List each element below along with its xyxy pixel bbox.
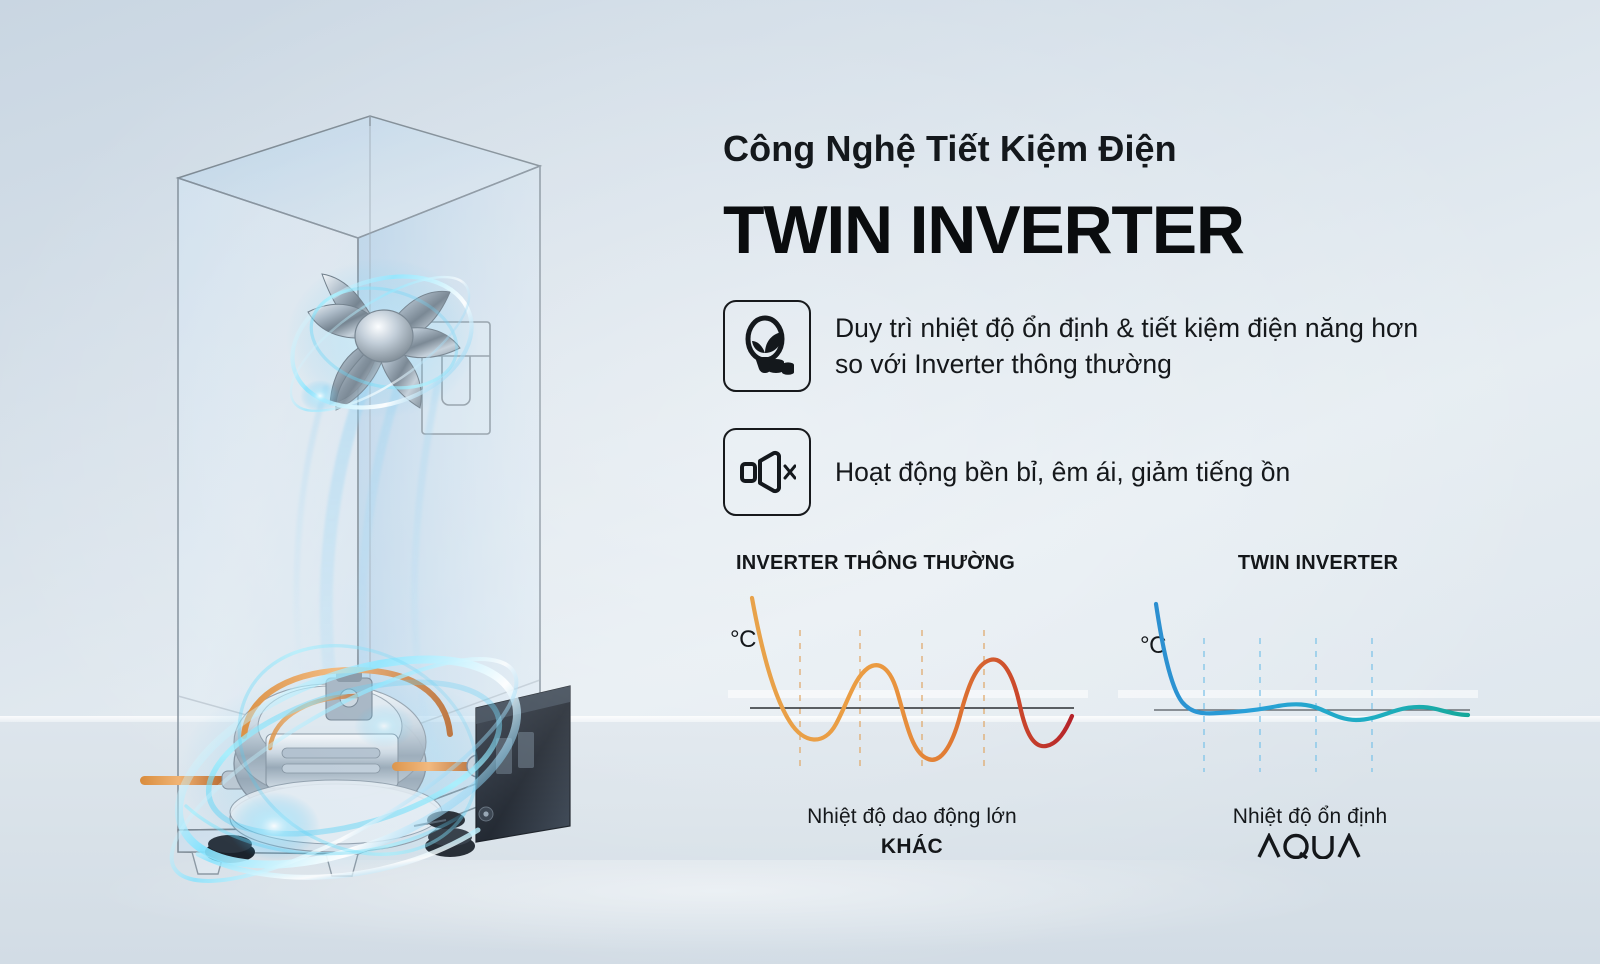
fan-hub — [355, 310, 413, 362]
chart-plot-twin: °C — [1118, 582, 1478, 797]
page-eyebrow: Công Nghệ Tiết Kiệm Điện — [723, 128, 1177, 170]
feature-row-low-noise: Hoạt động bền bỉ, êm ái, giảm tiếng ồn — [723, 428, 1290, 516]
chart-title-twin: TWIN INVERTER — [1118, 552, 1478, 582]
inverter-control-box — [476, 686, 570, 842]
swirl-hotspot — [228, 792, 320, 860]
page-title: TWIN INVERTER — [723, 196, 1244, 264]
chart-plot-conventional: °C — [728, 582, 1088, 797]
chart-series-twin — [1156, 604, 1468, 720]
comparison-charts: INVERTER THÔNG THƯỜNG °C — [718, 552, 1600, 882]
eco-bulb-coins-icon — [723, 300, 811, 392]
chart-series-conventional — [752, 598, 1072, 760]
swirl-hotspot-2 — [354, 704, 414, 748]
aqua-logo — [1118, 833, 1478, 864]
speaker-mute-icon — [723, 428, 811, 516]
content-column: Công Nghệ Tiết Kiệm Điện TWIN INVERTER — [718, 0, 1600, 964]
chart-conventional-inverter: INVERTER THÔNG THƯỜNG °C — [728, 552, 1088, 859]
chart-twin-inverter: TWIN INVERTER °C — [1118, 552, 1478, 864]
feature-text-energy-saving: Duy trì nhiệt độ ổn định & tiết kiệm điệ… — [835, 310, 1435, 382]
refrigerator-cutaway-illustration — [120, 70, 640, 900]
chart-caption-twin: Nhiệt độ ổn định — [1118, 805, 1478, 829]
chart-gridlines-conventional — [800, 630, 984, 772]
feature-row-energy-saving: Duy trì nhiệt độ ổn định & tiết kiệm điệ… — [723, 300, 1435, 392]
feature-text-low-noise: Hoạt động bền bỉ, êm ái, giảm tiếng ồn — [835, 454, 1290, 490]
chart-title-conventional: INVERTER THÔNG THƯỜNG — [728, 552, 1088, 582]
fan-spark — [300, 380, 340, 412]
chart-caption-conventional: Nhiệt độ dao động lớn — [728, 805, 1088, 829]
chart-brand-conventional: KHÁC — [728, 835, 1088, 859]
